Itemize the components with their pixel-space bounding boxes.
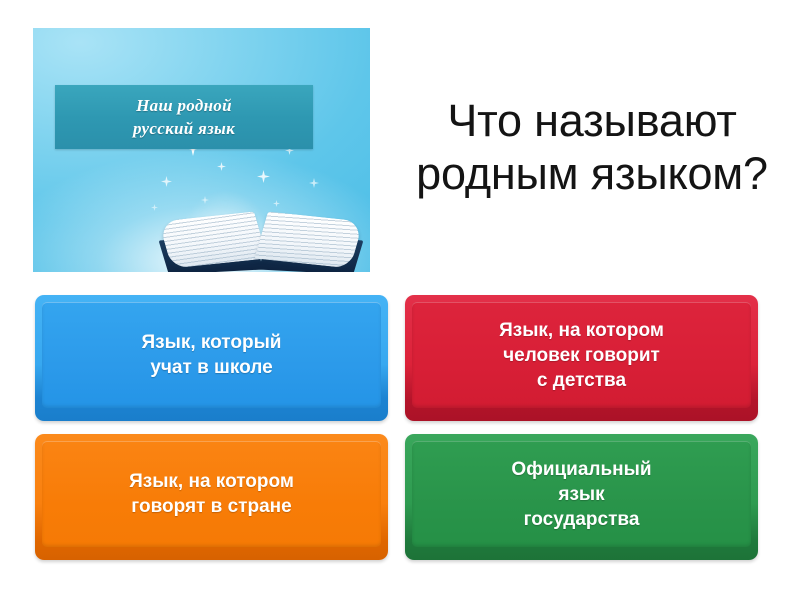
question-area: Наш родной русский язык Что называют род… [0,0,800,288]
book-page-left [159,212,268,269]
answer-option-red-label: Язык, на котором человек говорит с детст… [499,318,664,393]
answer-option-blue-label: Язык, который учат в школе [142,330,282,380]
answer-option-red-panel: Язык, на котором человек говорит с детст… [412,302,751,408]
image-title-line-2: русский язык [133,117,235,140]
open-book-illustration [161,192,361,272]
question-image: Наш родной русский язык [33,28,370,272]
answer-option-orange[interactable]: Язык, на котором говорят в стране [35,434,388,560]
sparkle-icon [161,176,172,187]
sparkle-icon [257,170,270,183]
sparkle-icon [309,178,319,188]
answer-option-green[interactable]: Официальный язык государства [405,434,758,560]
answer-option-green-label: Официальный язык государства [511,457,651,532]
answer-option-blue-panel: Язык, который учат в школе [42,302,381,408]
answer-options: Язык, который учат в школе Язык, на кото… [35,295,758,560]
sparkle-icon [151,204,158,211]
answer-option-blue[interactable]: Язык, который учат в школе [35,295,388,421]
answer-option-orange-panel: Язык, на котором говорят в стране [42,441,381,547]
question-text: Что называют родным языком? [396,22,788,272]
answer-option-orange-label: Язык, на котором говорят в стране [129,469,294,519]
sparkle-icon [217,162,226,171]
image-title-banner: Наш родной русский язык [55,85,313,149]
quiz-screen: Наш родной русский язык Что называют род… [0,0,800,600]
image-title-line-1: Наш родной [136,94,232,117]
answer-option-green-panel: Официальный язык государства [412,441,751,547]
book-page-right [255,212,364,269]
answer-option-red[interactable]: Язык, на котором человек говорит с детст… [405,295,758,421]
